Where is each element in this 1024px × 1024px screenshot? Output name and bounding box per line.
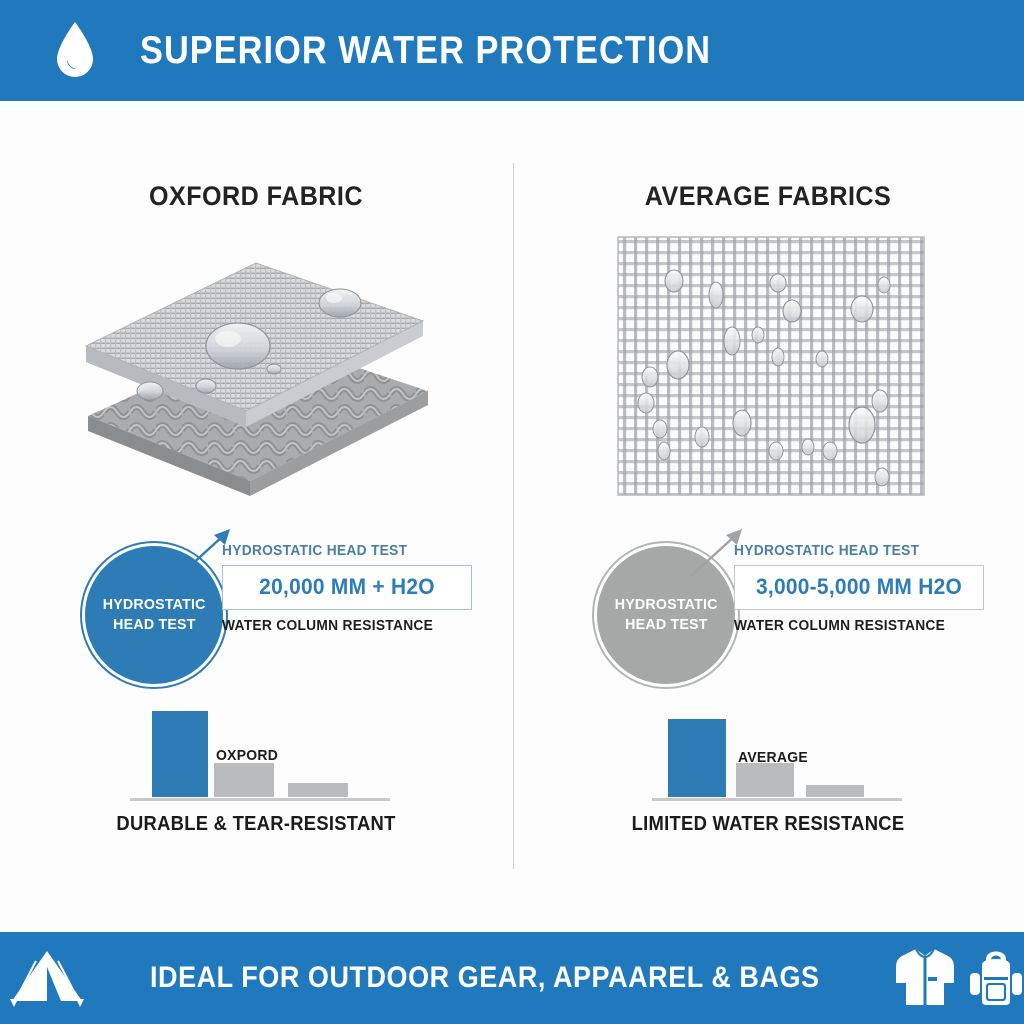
badge-info-average: HYDROSTATIC HEAD TEST 3,000-5,000 MM H2O…	[734, 543, 984, 634]
bar-data-label: OXPORD	[216, 747, 278, 764]
bar-item	[214, 763, 274, 797]
footer-banner: IDEAL FOR OUTDOOR GEAR, APPAAREL & BAGS	[0, 932, 1024, 1024]
badge-circle-line2: HEAD TEST	[625, 615, 707, 635]
badge-value-box: 20,000 MM + H2O	[222, 565, 472, 610]
badge-value-box: 3,000-5,000 MM H2O	[734, 565, 984, 610]
bar-item	[668, 719, 726, 797]
bar-chart-plot: OXPORD	[0, 701, 512, 801]
bar-chart-average: AVERAGE LIMITED WATER RESISTANCE	[512, 701, 1024, 871]
jacket-icon	[894, 943, 956, 1014]
chart-caption-oxford: DURABLE & TEAR-RESISTANT	[20, 813, 491, 836]
badge-row-oxford: HYDROSTATIC HEAD TEST HYDROSTATIC HEAD T…	[0, 521, 512, 681]
footer-icons	[894, 943, 1024, 1014]
badge-value: 20,000 MM + H2O	[239, 574, 456, 600]
column-average: AVERAGE FABRICS	[512, 101, 1024, 921]
chart-baseline	[652, 798, 902, 801]
chart-caption-average: LIMITED WATER RESISTANCE	[532, 813, 1003, 836]
footer-text: IDEAL FOR OUTDOOR GEAR, APPAAREL & BAGS	[150, 961, 820, 995]
bar-item	[152, 711, 208, 797]
water-drop-icon	[0, 20, 150, 82]
layered-fabric-illustration	[78, 241, 438, 501]
column-title-average: AVERAGE FABRICS	[530, 181, 1006, 212]
badge-subtitle: WATER COLUMN RESISTANCE	[734, 618, 972, 634]
bar-item	[288, 783, 348, 797]
bar-chart-plot: AVERAGE	[512, 701, 1024, 801]
header-banner: SUPERIOR WATER PROTECTION	[0, 0, 1024, 101]
badge-info-oxford: HYDROSTATIC HEAD TEST 20,000 MM + H2O WA…	[222, 543, 472, 634]
bar-item	[806, 785, 864, 797]
page-title: SUPERIOR WATER PROTECTION	[140, 29, 918, 73]
badge-row-average: HYDROSTATIC HEAD TEST HYDROSTATIC HEAD T…	[512, 521, 1024, 681]
bar-item	[736, 763, 794, 797]
bar-chart-oxford: OXPORD DURABLE & TEAR-RESISTANT	[0, 701, 512, 871]
backpack-icon	[968, 943, 1024, 1014]
badge-circle-line1: HYDROSTATIC	[615, 595, 718, 615]
mesh-fabric-illustration	[612, 229, 932, 505]
badge-circle-line2: HEAD TEST	[113, 615, 195, 635]
column-oxford: OXFORD FABRIC	[0, 101, 512, 921]
infographic-page: SUPERIOR WATER PROTECTION OXFORD FABRIC	[0, 0, 1024, 1024]
column-title-oxford: OXFORD FABRIC	[18, 181, 494, 212]
bar-data-label: AVERAGE	[738, 749, 808, 766]
badge-value: 3,000-5,000 MM H2O	[751, 574, 968, 600]
chart-baseline	[130, 798, 390, 801]
comparison-body: OXFORD FABRIC	[0, 101, 1024, 921]
badge-subtitle: WATER COLUMN RESISTANCE	[222, 618, 460, 634]
tent-icon	[0, 947, 94, 1009]
badge-circle-line1: HYDROSTATIC	[103, 595, 206, 615]
badge-kicker: HYDROSTATIC HEAD TEST	[734, 543, 972, 559]
badge-kicker: HYDROSTATIC HEAD TEST	[222, 543, 460, 559]
